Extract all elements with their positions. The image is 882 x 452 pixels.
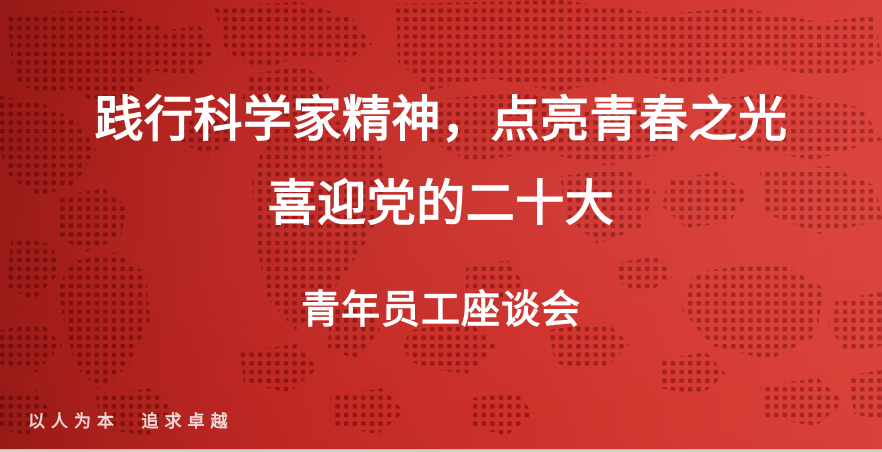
event-subtitle: 青年员工座谈会 xyxy=(301,291,581,330)
headline-line-1: 践行科学家精神，点亮青春之光 xyxy=(94,96,787,145)
event-banner: 践行科学家精神，点亮青春之光 喜迎党的二十大 青年员工座谈会 以人为本 追求卓越 xyxy=(0,0,882,452)
headline-line-2: 喜迎党的二十大 xyxy=(268,180,615,229)
banner-content: 践行科学家精神，点亮青春之光 喜迎党的二十大 青年员工座谈会 xyxy=(0,0,882,452)
